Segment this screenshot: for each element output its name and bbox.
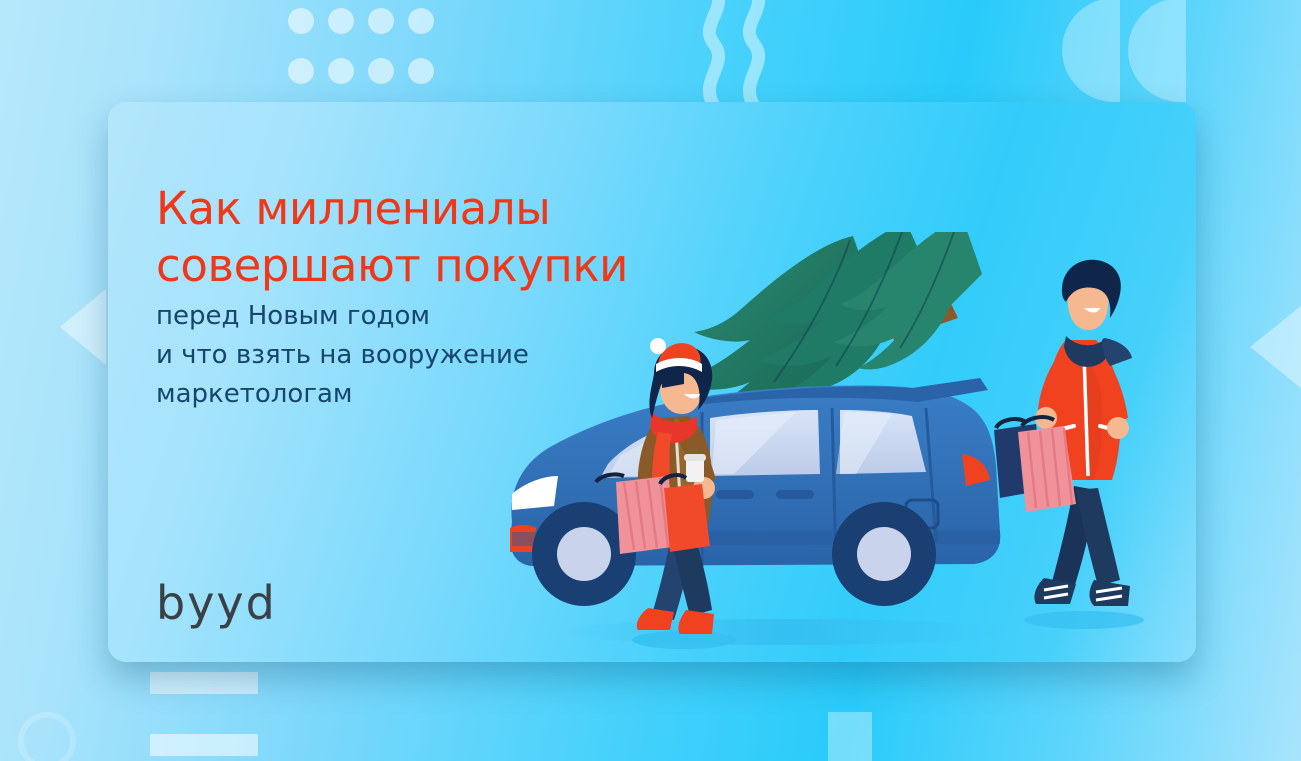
equals-bars-decoration xyxy=(150,672,258,761)
byyd-logo[interactable]: byyd xyxy=(156,580,277,626)
car-wheel-rear xyxy=(832,502,936,606)
equals-bar-top xyxy=(150,672,258,694)
dot xyxy=(288,8,314,34)
dot xyxy=(408,8,434,34)
headline-line-2: совершают покупки xyxy=(156,237,716,294)
quote-mark-decoration xyxy=(1062,0,1190,102)
ring-decoration xyxy=(18,712,76,761)
subhead-line-1: перед Новым годом xyxy=(156,300,716,333)
dot xyxy=(408,58,434,84)
dot xyxy=(368,8,394,34)
chevron-right-decoration xyxy=(1250,305,1301,389)
headline-line-1: Как миллениалы xyxy=(156,180,716,237)
quote-glyph-left xyxy=(1062,0,1120,102)
slide-card: Как миллениалы совершают покупки перед Н… xyxy=(108,102,1196,662)
squiggle-lines-decoration xyxy=(696,0,792,106)
square-decoration xyxy=(828,712,872,761)
chevron-left-decoration xyxy=(60,289,106,365)
dot xyxy=(368,58,394,84)
dot xyxy=(288,58,314,84)
headline-block: Как миллениалы совершают покупки перед Н… xyxy=(156,180,716,411)
man-ground-shadow xyxy=(1024,611,1144,629)
subhead-line-2: и что взять на вооружение xyxy=(156,339,716,372)
equals-bar-bottom xyxy=(150,734,258,756)
blue-minivan xyxy=(510,378,1000,606)
car-ground-shadow xyxy=(558,619,1018,645)
dot xyxy=(328,8,354,34)
man-character xyxy=(994,260,1132,606)
dot xyxy=(328,58,354,84)
quote-glyph-right xyxy=(1128,0,1186,102)
subhead-line-3: маркетологам xyxy=(156,378,716,411)
